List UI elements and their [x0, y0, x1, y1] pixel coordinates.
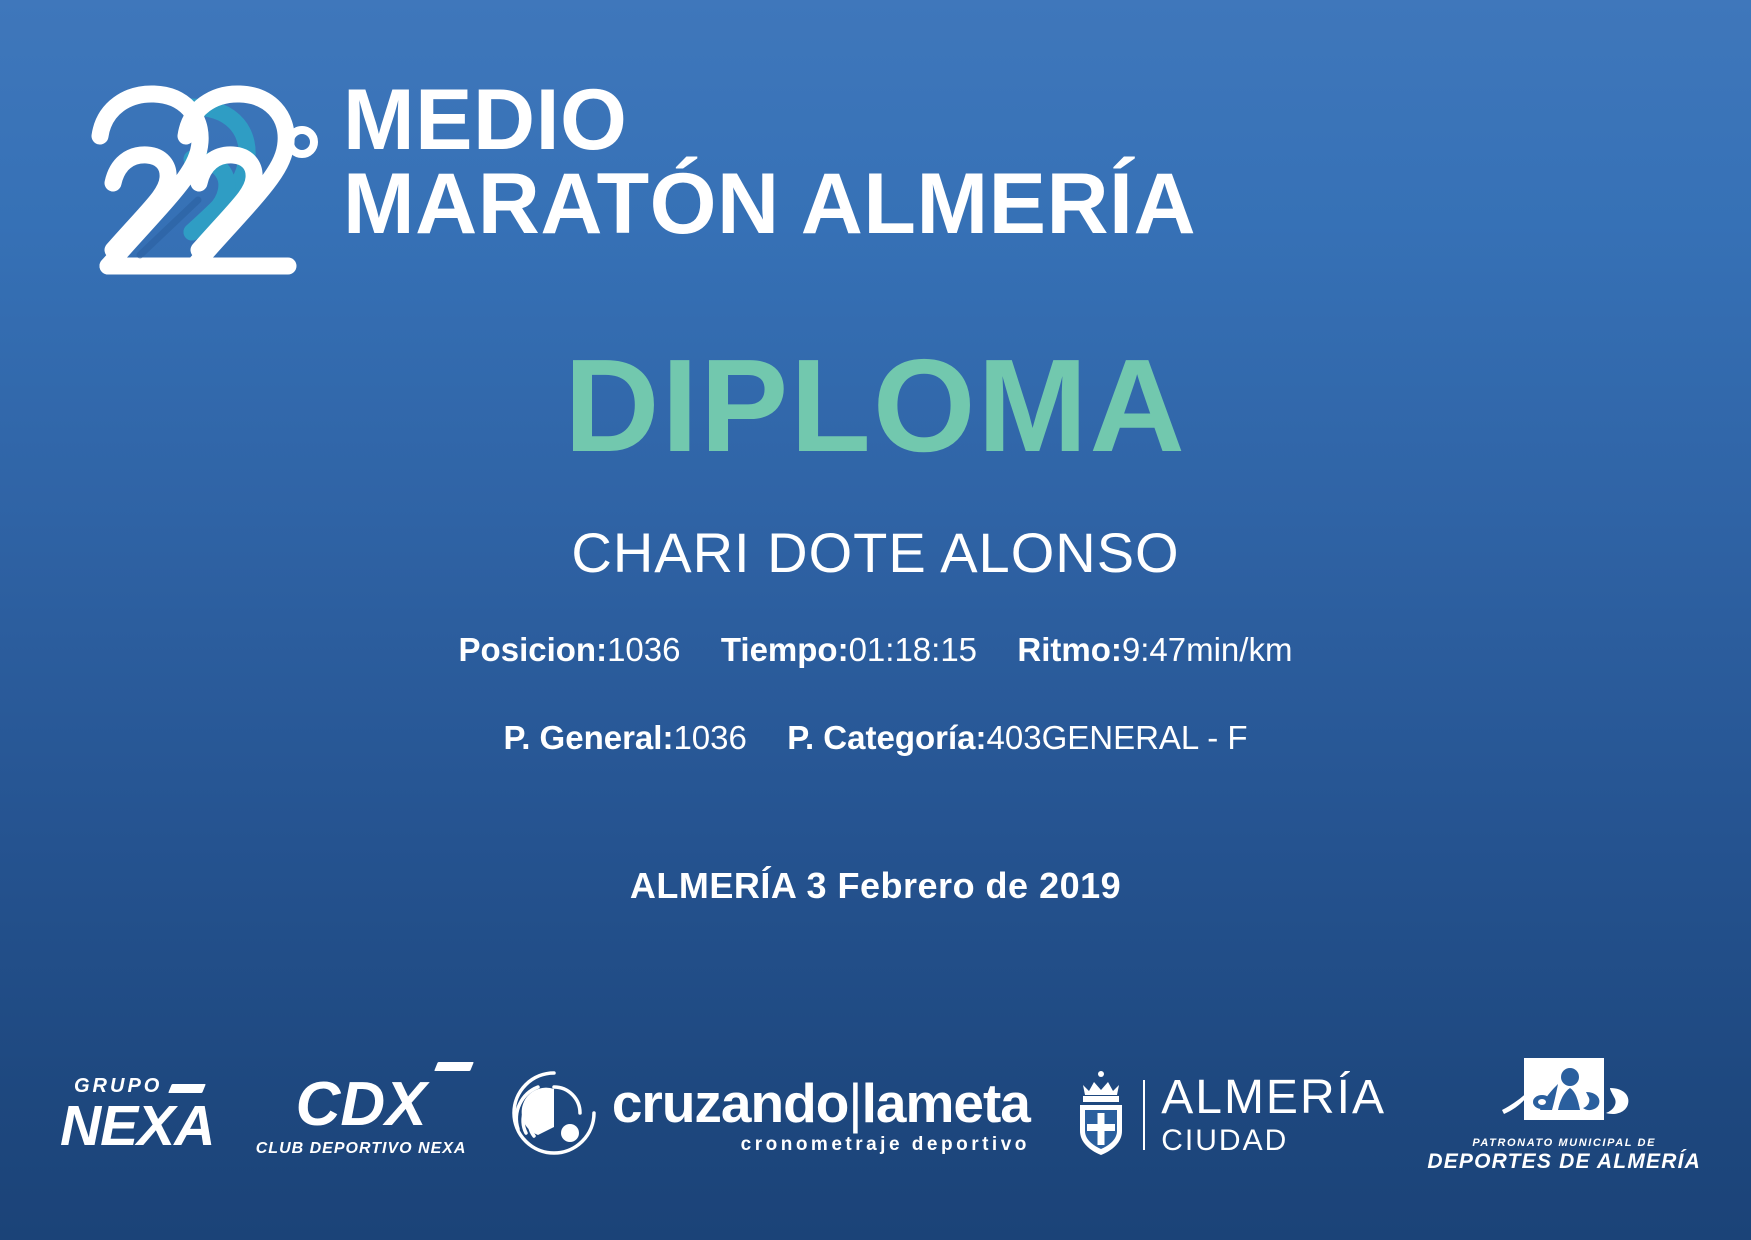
- clm-word-la: la: [862, 1072, 906, 1134]
- sponsor-patronato-deportes: PATRONATO MUNICIPAL DE DEPORTES DE ALMER…: [1427, 1058, 1701, 1172]
- cdx-wordmark: CDX: [256, 1074, 467, 1136]
- nexa-swoosh-icon: [169, 1084, 207, 1093]
- crowned-shield-cross-icon: [1071, 1069, 1131, 1162]
- stat-tiempo-label: Tiempo:: [721, 631, 849, 668]
- stat-tiempo-value: 01:18:15: [849, 631, 977, 668]
- results-row-secondary: P. General:1036 P. Categoría:403GENERAL …: [0, 718, 1751, 758]
- stat-p-general-value: 1036: [673, 719, 746, 756]
- stat-tiempo: Tiempo:01:18:15: [721, 631, 977, 668]
- place-and-date: ALMERÍA 3 Febrero de 2019: [0, 865, 1751, 907]
- patronato-line2: DEPORTES DE ALMERÍA: [1427, 1151, 1701, 1172]
- stat-ritmo-unit: min/km: [1186, 631, 1292, 668]
- stat-posicion-label: Posicion:: [459, 631, 608, 668]
- almeria-name: ALMERÍA: [1161, 1074, 1386, 1122]
- clm-word-meta: meta: [905, 1072, 1029, 1134]
- almeria-ciudad-logo: ALMERÍA CIUDAD: [1071, 1069, 1386, 1162]
- stat-p-categoria-value: 403: [987, 719, 1042, 756]
- clm-word-divider: |: [848, 1072, 861, 1134]
- cruzandolameta-subtitle: cronometraje deportivo: [612, 1135, 1030, 1154]
- nexa-wordmark: NEXA: [60, 1098, 214, 1155]
- stat-p-general-label: P. General:: [503, 719, 673, 756]
- stat-p-categoria: P. Categoría:403GENERAL - F: [787, 719, 1247, 756]
- stat-p-categoria-label: P. Categoría:: [787, 719, 986, 756]
- cdx-logo: CDX CLUB DEPORTIVO NEXA: [256, 1074, 467, 1157]
- stat-categoria-name: GENERAL - F: [1042, 719, 1248, 756]
- patronato-logo: PATRONATO MUNICIPAL DE DEPORTES DE ALMER…: [1427, 1058, 1701, 1172]
- stat-posicion: Posicion:1036: [459, 631, 681, 668]
- athletes-square-icon: [1427, 1058, 1701, 1134]
- event-header: MEDIO MARATÓN ALMERÍA: [80, 72, 1691, 310]
- page-title: DIPLOMA: [0, 340, 1751, 472]
- stat-posicion-value: 1036: [607, 631, 680, 668]
- sponsor-cruzandolameta: cruzando|lameta cronometraje deportivo: [508, 1067, 1030, 1164]
- cdx-wordmark-text: CDX: [296, 1070, 427, 1139]
- almeria-sub: CIUDAD: [1161, 1126, 1386, 1156]
- logo-divider: [1143, 1080, 1145, 1150]
- nexa-wordmark-text: NEXA: [60, 1094, 214, 1158]
- stat-ritmo-value: 9:47: [1122, 631, 1186, 668]
- stat-ritmo: Ritmo:9:47min/km: [1017, 631, 1292, 668]
- clm-word-cruzando: cruzando: [612, 1072, 848, 1134]
- nexa-logo: GRUPO NEXA: [60, 1076, 214, 1155]
- event-title-line1: MEDIO: [343, 78, 1196, 162]
- patronato-line1: PATRONATO MUNICIPAL DE: [1427, 1138, 1701, 1149]
- cruzandolameta-text: cruzando|lameta cronometraje deportivo: [612, 1076, 1030, 1154]
- cruzandolameta-wordmark: cruzando|lameta: [612, 1076, 1030, 1131]
- sponsor-almeria-ciudad: ALMERÍA CIUDAD: [1071, 1069, 1386, 1162]
- double-two-ribbon-icon: [80, 80, 325, 310]
- cdx-subtitle: CLUB DEPORTIVO NEXA: [256, 1141, 467, 1157]
- almeria-ciudad-text: ALMERÍA CIUDAD: [1161, 1074, 1386, 1156]
- event-title-line2: MARATÓN ALMERÍA: [343, 162, 1196, 246]
- stopwatch-arc-icon: [508, 1067, 600, 1164]
- sponsor-cdx: CDX CLUB DEPORTIVO NEXA: [256, 1074, 467, 1157]
- runner-name: CHARI DOTE ALONSO: [0, 522, 1751, 584]
- sponsor-grupo-nexa: GRUPO NEXA: [60, 1076, 214, 1155]
- stat-p-general: P. General:1036: [503, 719, 746, 756]
- cruzandolameta-logo: cruzando|lameta cronometraje deportivo: [508, 1067, 1030, 1164]
- event-title: MEDIO MARATÓN ALMERÍA: [343, 78, 1196, 247]
- stat-ritmo-label: Ritmo:: [1017, 631, 1121, 668]
- results-row-primary: Posicion:1036 Tiempo:01:18:15 Ritmo:9:47…: [0, 630, 1751, 670]
- sponsor-strip: GRUPO NEXA CDX CLUB DEPORTIVO NEXA: [60, 1060, 1701, 1170]
- cdx-swoosh-icon: [435, 1062, 475, 1071]
- diploma-certificate: MEDIO MARATÓN ALMERÍA DIPLOMA CHARI DOTE…: [0, 0, 1751, 1240]
